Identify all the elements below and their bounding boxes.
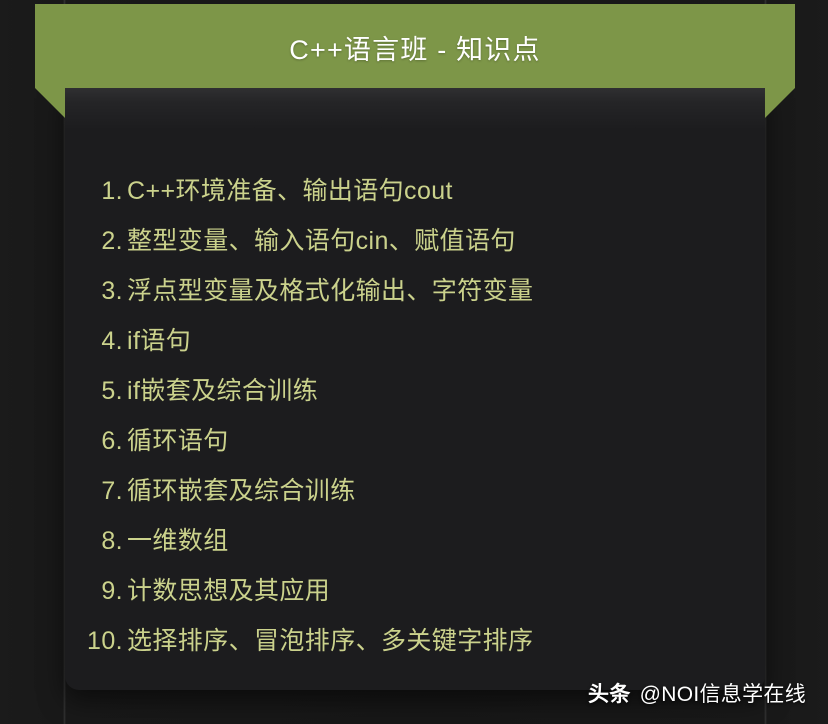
list-item-number: 6. bbox=[79, 429, 123, 454]
list-item-number: 7. bbox=[79, 479, 123, 504]
list-item-number: 8. bbox=[79, 529, 123, 554]
list-item[interactable]: 6. 循环语句 bbox=[127, 416, 725, 466]
list-item[interactable]: 10. 选择排序、冒泡排序、多关键字排序 bbox=[127, 616, 725, 666]
list-item-number: 9. bbox=[79, 579, 123, 604]
list-item[interactable]: 1. C++环境准备、输出语句cout bbox=[127, 166, 725, 216]
header-ribbon: C++语言班 - 知识点 bbox=[0, 4, 828, 126]
list-item-label: C++环境准备、输出语句cout bbox=[127, 179, 453, 204]
ribbon-shape: C++语言班 - 知识点 bbox=[35, 4, 795, 122]
card-content-area: 1. C++环境准备、输出语句cout 2. 整型变量、输入语句cin、赋值语句… bbox=[65, 88, 765, 690]
list-item-label: 选择排序、冒泡排序、多关键字排序 bbox=[127, 629, 533, 654]
list-item-label: 循环语句 bbox=[127, 429, 229, 454]
list-item[interactable]: 7. 循环嵌套及综合训练 bbox=[127, 466, 725, 516]
knowledge-points-card: 1. C++环境准备、输出语句cout 2. 整型变量、输入语句cin、赋值语句… bbox=[65, 88, 765, 690]
watermark: 头条 @NOI信息学在线 bbox=[588, 678, 806, 708]
list-item[interactable]: 4. if语句 bbox=[127, 316, 725, 366]
list-item-number: 5. bbox=[79, 379, 123, 404]
list-item-label: if嵌套及综合训练 bbox=[127, 379, 318, 404]
list-item-label: 循环嵌套及综合训练 bbox=[127, 479, 356, 504]
list-item-number: 2. bbox=[79, 229, 123, 254]
list-item-label: 整型变量、输入语句cin、赋值语句 bbox=[127, 229, 516, 254]
watermark-handle: @NOI信息学在线 bbox=[640, 678, 806, 708]
list-item-label: 计数思想及其应用 bbox=[127, 579, 330, 604]
watermark-brand: 头条 bbox=[588, 678, 631, 708]
list-item[interactable]: 2. 整型变量、输入语句cin、赋值语句 bbox=[127, 216, 725, 266]
topic-list: 1. C++环境准备、输出语句cout 2. 整型变量、输入语句cin、赋值语句… bbox=[127, 166, 725, 666]
list-item[interactable]: 9. 计数思想及其应用 bbox=[127, 566, 725, 616]
list-item-number: 10. bbox=[79, 629, 123, 654]
list-item-label: 浮点型变量及格式化输出、字符变量 bbox=[127, 279, 533, 304]
list-item[interactable]: 8. 一维数组 bbox=[127, 516, 725, 566]
page-title: C++语言班 - 知识点 bbox=[35, 4, 795, 90]
list-item-label: if语句 bbox=[127, 329, 191, 354]
list-item-number: 4. bbox=[79, 329, 123, 354]
list-item-number: 1. bbox=[79, 179, 123, 204]
list-item-number: 3. bbox=[79, 279, 123, 304]
list-item-label: 一维数组 bbox=[127, 529, 229, 554]
list-item[interactable]: 5. if嵌套及综合训练 bbox=[127, 366, 725, 416]
slide-canvas: 1. C++环境准备、输出语句cout 2. 整型变量、输入语句cin、赋值语句… bbox=[0, 0, 828, 724]
list-item[interactable]: 3. 浮点型变量及格式化输出、字符变量 bbox=[127, 266, 725, 316]
